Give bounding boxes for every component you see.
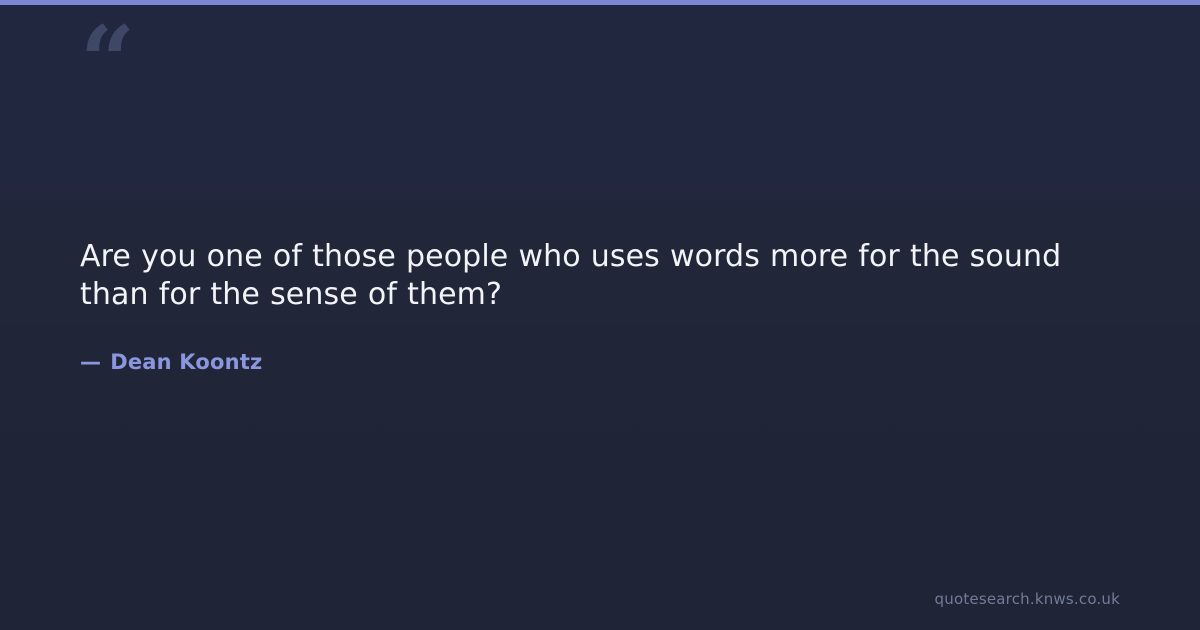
attribution-author: Dean Koontz: [110, 350, 262, 374]
quote-content: Are you one of those people who uses wor…: [80, 238, 1128, 374]
quote-card: “ Are you one of those people who uses w…: [0, 0, 1200, 630]
attribution-dash: —: [80, 350, 110, 374]
top-accent-bar: [0, 0, 1200, 5]
site-watermark: quotesearch.knws.co.uk: [935, 590, 1120, 608]
opening-quote-mark-icon: “: [80, 14, 133, 110]
quote-attribution: —Dean Koontz: [80, 314, 1128, 374]
quote-text: Are you one of those people who uses wor…: [80, 238, 1128, 314]
